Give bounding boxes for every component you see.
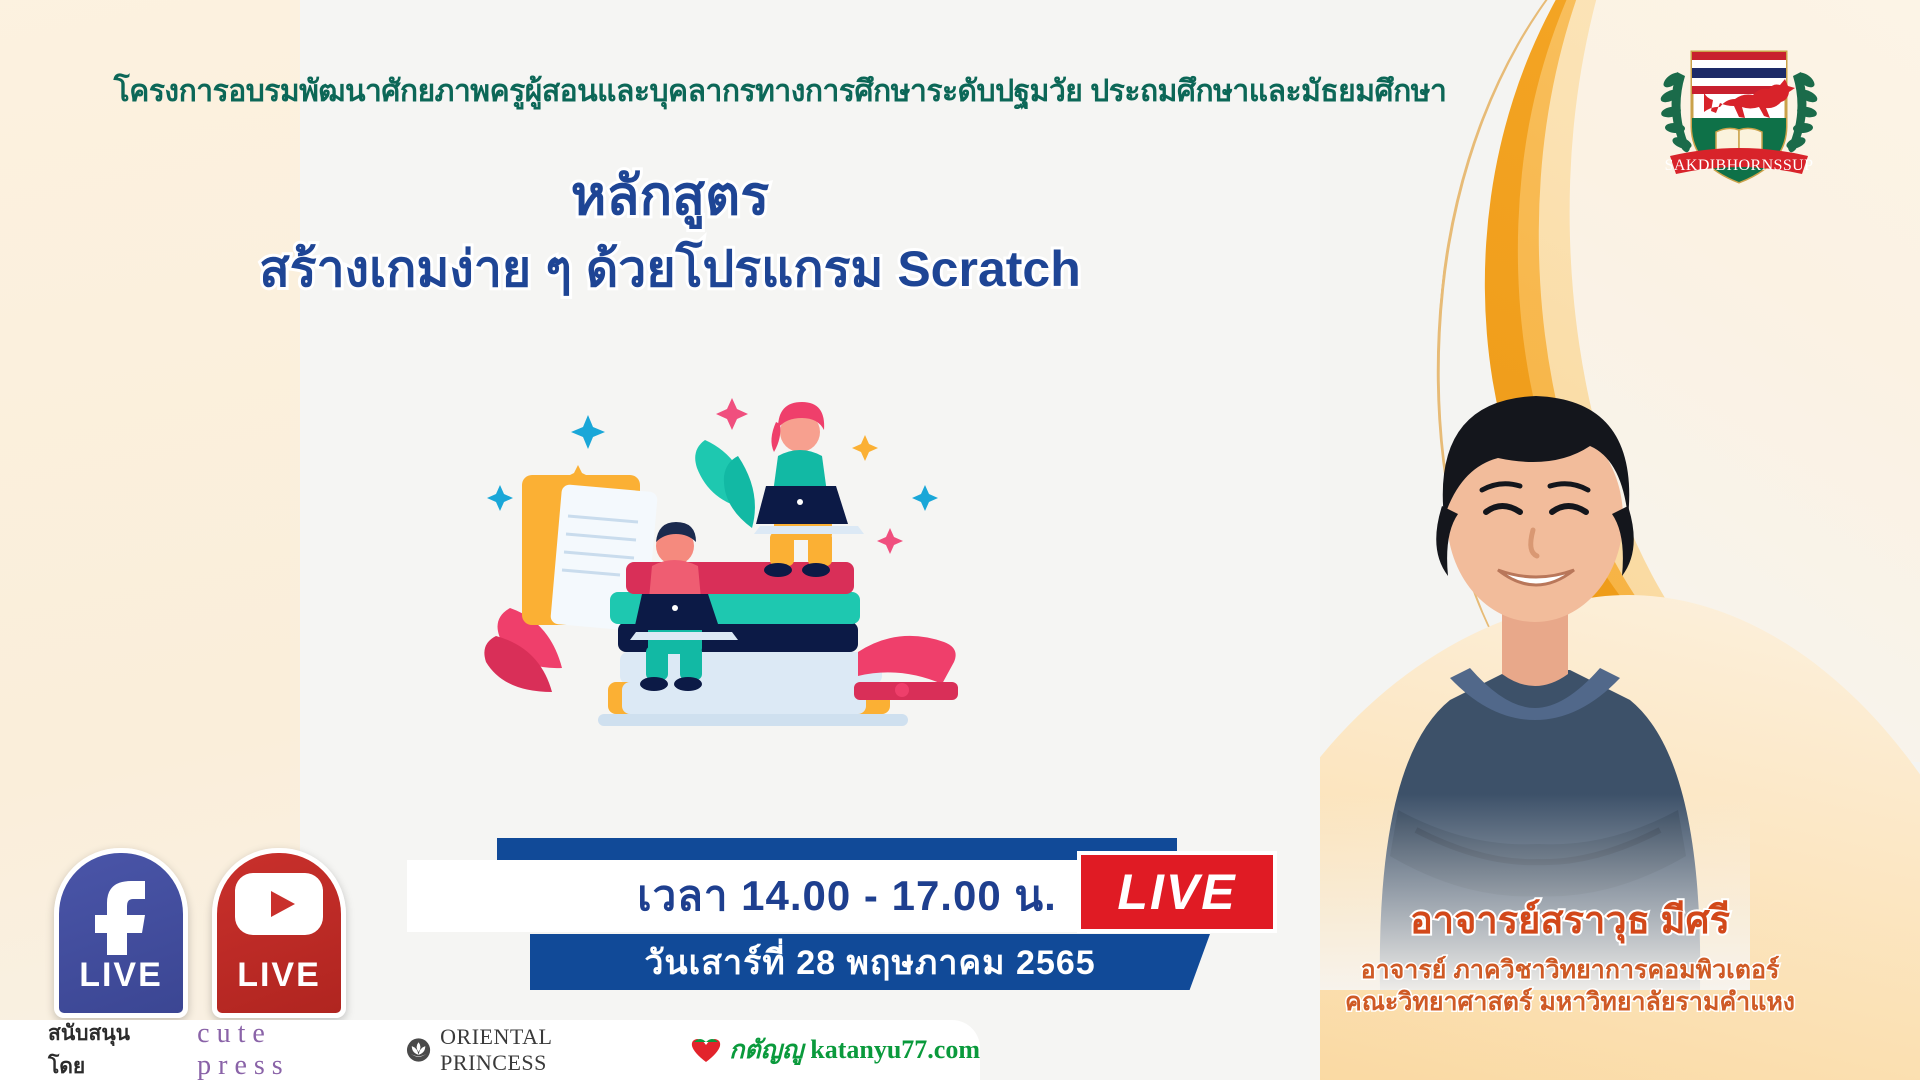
speaker-organization: คณะวิทยาศาสตร์ มหาวิทยาลัยรามคำแหง <box>1310 986 1830 1018</box>
sponsor-oriental-princess-text: ORIENTAL PRINCESS <box>440 1024 656 1076</box>
date-row: วันเสาร์ที่ 28 พฤษภาคม 2565 <box>530 934 1210 990</box>
date-text: วันเสาร์ที่ 28 พฤษภาคม 2565 <box>644 935 1095 989</box>
facebook-live-button[interactable]: LIVE <box>54 848 188 1018</box>
live-badge-label: LIVE <box>1117 863 1236 921</box>
sponsor-label: สนับสนุนโดย <box>48 1017 163 1080</box>
sponsor-oriental-princess: ORIENTAL PRINCESS <box>406 1024 656 1076</box>
youtube-live-button[interactable]: LIVE <box>212 848 346 1018</box>
sponsor-katanyu-thai: กตัญญู <box>729 1030 803 1070</box>
time-text: เวลา 14.00 - 17.00 น. <box>407 863 1177 929</box>
facebook-icon <box>85 869 157 955</box>
youtube-live-label: LIVE <box>237 956 321 995</box>
schedule-banner: เวลา 14.00 - 17.00 น. LIVE วันเสาร์ที่ 2… <box>497 830 1237 1000</box>
speaker-role: อาจารย์ ภาควิชาวิทยาการคอมพิวเตอร์ <box>1310 954 1830 986</box>
program-title: โครงการอบรมพัฒนาศักยภาพครูผู้สอนและบุคลา… <box>0 68 1560 115</box>
live-badge: LIVE <box>1077 851 1277 933</box>
course-title: สร้างเกมง่าย ๆ ด้วยโปรแกรม Scratch <box>0 230 1340 309</box>
sponsor-cute-press: cute press <box>197 1018 372 1080</box>
facebook-live-label: LIVE <box>79 956 163 995</box>
heart-icon <box>690 1036 722 1064</box>
time-row: เวลา 14.00 - 17.00 น. LIVE <box>407 860 1177 932</box>
lotus-icon <box>406 1037 431 1063</box>
youtube-icon <box>231 869 327 941</box>
social-live-buttons: LIVE LIVE <box>48 818 388 1018</box>
banner-top-accent-bar <box>497 838 1177 860</box>
crest-ribbon-text: SAKDIBHORNSSUP <box>1665 157 1814 174</box>
sponsor-bar: สนับสนุนโดย cute press ORIENTAL PRINCESS… <box>0 1020 980 1080</box>
course-label: หลักสูตร <box>0 152 1340 238</box>
school-crest-logo: SAKDIBHORNSSUP <box>1644 14 1834 204</box>
speaker-info: อาจารย์สราวุธ มีศรี อาจารย์ ภาควิชาวิทยา… <box>1310 889 1830 1018</box>
speaker-name: อาจารย์สราวุธ มีศรี <box>1310 889 1830 950</box>
sponsor-katanyu-text: katanyu77.com <box>810 1035 980 1065</box>
books-and-students-illustration <box>470 370 1030 790</box>
speaker-photo <box>1320 290 1750 990</box>
sponsor-katanyu: กตัญญู katanyu77.com <box>690 1030 980 1070</box>
